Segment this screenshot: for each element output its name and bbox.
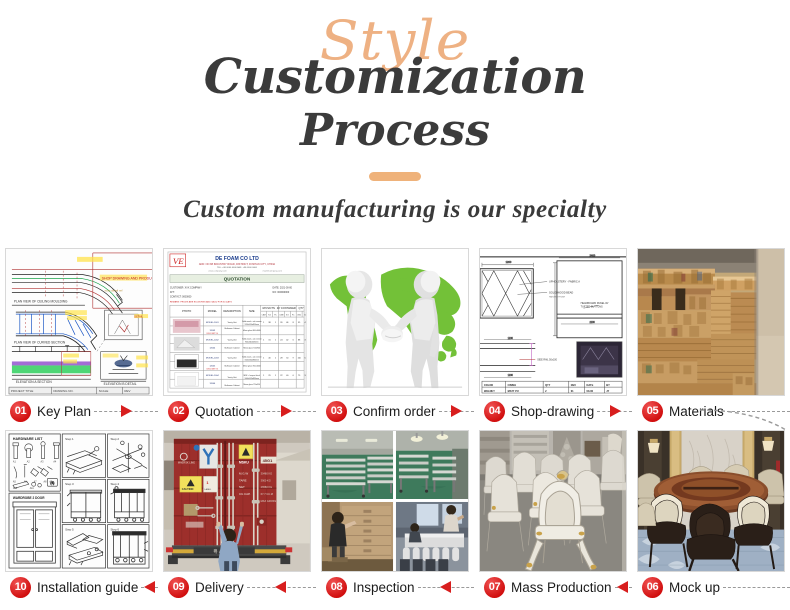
svg-text:CBM: CBM	[279, 315, 283, 317]
stacked-timber-lumber	[638, 249, 784, 395]
process-row-1-images: SHOP DRAWING AND PRODUCTION note detail …	[0, 244, 790, 396]
svg-text:SIDE RAIL 50x100: SIDE RAIL 50x100	[537, 358, 557, 361]
svg-text:Solid wood + oak veneer: Solid wood + oak veneer	[242, 321, 262, 323]
svg-text:MATT PU: MATT PU	[508, 389, 519, 393]
cell-mass-production	[474, 426, 632, 572]
label-text-09: Delivery	[195, 580, 244, 595]
svg-text:CONTACT: 0000000: CONTACT: 0000000	[170, 295, 192, 298]
svg-text:Bathroom Cabinet: Bathroom Cabinet	[225, 384, 240, 387]
svg-text:Step 5: Step 5	[65, 528, 74, 532]
cell-confirm-order	[316, 244, 474, 396]
svg-text:3900 KG: 3900 KG	[261, 478, 271, 482]
arrow-02-to-03	[257, 405, 316, 417]
svg-text:30480 KG: 30480 KG	[261, 471, 272, 475]
svg-text:22: 22	[280, 375, 282, 377]
accent-divider-bar	[369, 172, 421, 181]
process-grid: SHOP DRAWING AND PRODUCTION note detail …	[0, 244, 790, 602]
svg-text:PHOTO: PHOTO	[182, 309, 191, 313]
svg-text:Step 6: Step 6	[111, 528, 120, 532]
svg-text:REMARK: PRICES ARE EX-WORKS AN: REMARK: PRICES ARE EX-WORKS AND VALID FO…	[170, 300, 232, 303]
thumb-shop-drawing: 1200 UPHOLSTERY - FABRIC A SOLID WOOD	[479, 248, 627, 396]
svg-text:DE FOAM CO LTD: DE FOAM CO LTD	[215, 256, 259, 262]
process-row-1-labels: 01 Key Plan 02 Quotation 03 Confirm orde…	[0, 396, 790, 426]
svg-text:MAERSK LINE: MAERSK LINE	[178, 461, 195, 465]
svg-text:31: 31	[268, 340, 270, 342]
quotation-spreadsheet: VE DE FOAM CO LTD ADD: NO 88 INDUSTRY RO…	[164, 249, 310, 395]
svg-text:26580 KG: 26580 KG	[261, 485, 272, 489]
svg-text:Vanity Unit: Vanity Unit	[228, 357, 237, 360]
svg-text:45G1: 45G1	[263, 458, 273, 463]
cell-shop-drawing: 1200 UPHOLSTERY - FABRIC A SOLID WOOD	[474, 244, 632, 396]
process-row-2-images: HARDWARE LIST A1A2A3A4 A5A6A7A8 A10A11A9	[0, 426, 790, 572]
thumb-confirm-order	[321, 248, 469, 396]
svg-text:PROJECT TITLE: PROJECT TITLE	[11, 389, 33, 393]
svg-text:MODEL-1003: MODEL-1003	[206, 358, 219, 360]
svg-text:note detail ref: note detail ref	[105, 288, 123, 292]
arrow-left-icon	[617, 581, 628, 593]
badge-08: 08	[326, 577, 347, 598]
arrow-08-to-09	[247, 581, 316, 593]
svg-text:Solid wood + oak veneer: Solid wood + oak veneer	[242, 339, 262, 341]
arrow-03-to-04	[439, 405, 474, 417]
svg-text:1: 1	[275, 322, 276, 324]
svg-text:SIZE: SIZE	[249, 309, 255, 313]
svg-text:42: 42	[286, 340, 288, 342]
svg-text:2400: 2400	[590, 253, 596, 257]
svg-text:Vanity Unit: Vanity Unit	[228, 321, 237, 324]
svg-text:Vanity Unit: Vanity Unit	[228, 376, 237, 379]
svg-text:1PCS/CTN: 1PCS/CTN	[262, 306, 275, 310]
arrow-right-icon	[281, 405, 292, 417]
svg-text:Bathroom Cabinet: Bathroom Cabinet	[225, 347, 240, 350]
badge-06: 06	[642, 577, 663, 598]
arrow-07-to-08	[418, 581, 474, 593]
svg-text:Vanity Unit: Vanity Unit	[228, 339, 237, 342]
svg-text:www.company.com: www.company.com	[208, 271, 227, 273]
thumb-quotation: VE DE FOAM CO LTD ADD: NO 88 INDUSTRY RO…	[163, 248, 311, 396]
badge-01: 01	[10, 401, 31, 422]
cell-quotation: VE DE FOAM CO LTD ADD: NO 88 INDUSTRY RO…	[158, 244, 316, 396]
svg-text:MODEL: MODEL	[208, 309, 218, 313]
svg-text:(4): (4)	[50, 481, 54, 485]
svg-text:00-00: 00-00	[587, 389, 594, 393]
svg-text:Step 3: Step 3	[65, 482, 74, 486]
label-text-08: Inspection	[353, 580, 415, 595]
process-row-2-labels: 10 Installation guide 09 Delivery 08 Ins…	[0, 572, 790, 602]
svg-text:1200x550x850mm: 1200x550x850mm	[245, 324, 260, 326]
svg-text:NET: NET	[239, 485, 245, 489]
svg-text:COLOR: COLOR	[484, 383, 493, 387]
svg-text:LABEL: LABEL	[204, 488, 212, 491]
svg-text:CUSTOMER: XXX COMPANY: CUSTOMER: XXX COMPANY	[170, 286, 202, 289]
arrow-right-icon	[451, 405, 462, 417]
svg-text:12006: 12006	[209, 383, 216, 385]
arrow-left-icon	[275, 581, 286, 593]
cell-materials	[632, 244, 790, 396]
svg-text:$: $	[305, 315, 306, 317]
svg-text:1: 1	[275, 340, 276, 342]
svg-text:CU.CAP.: CU.CAP.	[239, 492, 251, 496]
arrow-left-icon	[144, 581, 155, 593]
svg-text:JT: JT	[606, 389, 609, 393]
cell-inspection	[316, 426, 474, 572]
svg-text:1500x560x860mm: 1500x560x860mm	[245, 359, 260, 361]
svg-text:ADD: NO 88 INDUSTRY ROAD, DIST: ADD: NO 88 INDUSTRY ROAD, DISTRICT, FOSH…	[199, 262, 276, 266]
svg-text:A11: A11	[30, 487, 35, 490]
badge-04: 04	[484, 401, 505, 422]
label-step-08[interactable]: 08 Inspection	[316, 572, 474, 602]
page-title-line1: Customization	[0, 50, 790, 105]
svg-text:Step 2: Step 2	[111, 437, 120, 441]
page-header: Style Customization Process Custom manuf…	[0, 0, 790, 240]
svg-text:DISCOUNT 5%: DISCOUNT 5%	[207, 368, 219, 370]
dining-table-mockup	[638, 431, 784, 571]
svg-text:QUOTATION: QUOTATION	[224, 277, 250, 282]
cell-key-plan: SHOP DRAWING AND PRODUCTION note detail …	[0, 244, 158, 396]
label-step-09[interactable]: 09 Delivery	[158, 572, 316, 602]
svg-text:MDF + lacquer finish: MDF + lacquer finish	[244, 375, 260, 377]
arrow-01-to-02	[94, 405, 158, 417]
svg-text:PLAN VIEW OF CURVED SECTION: PLAN VIEW OF CURVED SECTION	[14, 341, 66, 345]
svg-text:79: 79	[298, 375, 300, 377]
svg-text:DETAIL: DETAIL	[134, 315, 143, 319]
svg-text:QTY: QTY	[545, 383, 551, 387]
label-text-01: Key Plan	[37, 404, 91, 419]
svg-text:1200: 1200	[508, 374, 514, 377]
label-step-06[interactable]: 06 Mock up	[632, 572, 790, 602]
svg-text:ELEVATION A SECTION: ELEVATION A SECTION	[16, 380, 52, 384]
svg-text:1200: 1200	[506, 260, 512, 264]
svg-text:ELEVATION B DETAIL: ELEVATION B DETAIL	[104, 382, 137, 386]
svg-text:BY: BY	[606, 383, 610, 387]
svg-text:1: 1	[275, 358, 276, 360]
badge-10: 10	[10, 577, 31, 598]
handshake-world-map	[322, 249, 468, 395]
handshake-hands	[381, 326, 403, 342]
label-step-03[interactable]: 03 Confirm order	[316, 396, 474, 426]
arrow-09-to-10	[141, 581, 158, 593]
arrow-06-tail	[723, 581, 790, 593]
label-step-07[interactable]: 07 Mass Production	[474, 572, 632, 602]
label-text-05: Materials	[669, 404, 724, 419]
svg-text:900x500x820mm: 900x500x820mm	[245, 342, 259, 344]
svg-text:WARDROBE 2 DOOR: WARDROBE 2 DOOR	[13, 496, 45, 500]
arrow-right-icon	[121, 405, 132, 417]
arrow-05-curve-down	[727, 405, 790, 417]
svg-text:12003: 12003	[209, 330, 216, 332]
dash-line	[723, 587, 790, 588]
cell-mock-up	[632, 426, 790, 572]
warehouse-inspection-collage	[322, 431, 468, 571]
svg-text:CBM: CBM	[262, 315, 266, 317]
svg-text:SOLID WOOD BEAD: SOLID WOOD BEAD	[549, 290, 573, 294]
svg-text:ATT:: ATT:	[170, 291, 175, 294]
svg-text:9: 9	[293, 358, 294, 360]
svg-text:1: 1	[263, 358, 264, 360]
svg-text:FINISH: FINISH	[508, 383, 517, 387]
white-chairs-production	[480, 431, 626, 571]
svg-text:Bathroom Cabinet: Bathroom Cabinet	[225, 327, 240, 330]
svg-text:12004: 12004	[209, 348, 216, 350]
svg-text:TARE: TARE	[239, 478, 247, 482]
cad-key-plan-drawing: SHOP DRAWING AND PRODUCTION note detail …	[6, 249, 152, 395]
svg-text:HARDWARE LIST: HARDWARE LIST	[13, 437, 43, 441]
svg-text:29: 29	[268, 375, 270, 377]
svg-text:Step 1: Step 1	[65, 437, 74, 441]
thumb-mass-production	[479, 430, 627, 572]
svg-text:1200: 1200	[508, 337, 514, 340]
arrow-04-to-05	[597, 405, 632, 417]
svg-text:DISCOUNT 5%: DISCOUNT 5%	[207, 333, 219, 335]
thumb-mock-up	[637, 430, 785, 572]
svg-text:QTY: QTY	[298, 306, 304, 310]
svg-text:TEL: +86 0000 0000 FAX: +86: TEL: +86 0000 0000 FAX: +86 0000 0000	[217, 266, 258, 269]
label-text-02: Quotation	[195, 404, 254, 419]
svg-text:Step 4: Step 4	[111, 482, 120, 486]
assembly-instruction-sheet: HARDWARE LIST A1A2A3A4 A5A6A7A8 A10A11A9	[6, 431, 152, 571]
svg-text:MODEL-1002: MODEL-1002	[206, 340, 219, 342]
svg-text:TUFTED BUTTONS: TUFTED BUTTONS	[581, 306, 603, 309]
page-tagline: Custom manufacturing is our specialty	[0, 196, 790, 224]
svg-text:Mirror glass 900x1000: Mirror glass 900x1000	[243, 365, 260, 367]
svg-text:REV: REV	[571, 383, 577, 387]
svg-text:MAX GROSS: MAX GROSS	[261, 499, 277, 503]
badge-09: 09	[168, 577, 189, 598]
thumb-delivery: MAERSK LINE MSKU 45G1 M.G.WTARE NETCU.CA…	[163, 430, 311, 572]
svg-text:DRAWING NO.: DRAWING NO.	[53, 389, 73, 393]
svg-text:1000x520x830mm: 1000x520x830mm	[245, 378, 260, 380]
svg-text:REV: REV	[124, 389, 130, 393]
svg-text:Mirror glass 800x1000: Mirror glass 800x1000	[243, 330, 260, 332]
badge-03: 03	[326, 401, 347, 422]
thumb-installation-guide: HARDWARE LIST A1A2A3A4 A5A6A7A8 A10A11A9	[5, 430, 153, 572]
arrow-06-to-07	[615, 581, 632, 593]
svg-text:M.G.W: M.G.W	[239, 471, 248, 475]
label-text-06: Mock up	[669, 580, 720, 595]
label-text-10: Installation guide	[37, 580, 138, 595]
badge-02: 02	[168, 401, 189, 422]
label-step-10[interactable]: 10 Installation guide	[0, 572, 158, 602]
label-step-05[interactable]: 05 Materials	[632, 396, 790, 426]
svg-text:DESCRIPTION: DESCRIPTION	[223, 309, 241, 313]
svg-text:12005: 12005	[209, 365, 216, 367]
red-shipping-container: MAERSK LINE MSKU 45G1 M.G.WTARE NETCU.CA…	[164, 431, 310, 571]
svg-text:Bathroom Cabinet: Bathroom Cabinet	[225, 364, 240, 367]
svg-text:SCALE: SCALE	[99, 389, 109, 393]
svg-text:VE: VE	[173, 256, 184, 266]
svg-text:WALNUT: WALNUT	[484, 389, 495, 393]
svg-text:MODEL-1004: MODEL-1004	[206, 375, 219, 377]
svg-text:40' CONTAINER: 40' CONTAINER	[277, 306, 296, 310]
svg-text:1: 1	[275, 375, 276, 377]
page-title-line2: Process	[0, 107, 790, 155]
svg-text:Mirror glass 750x950: Mirror glass 750x950	[244, 384, 261, 386]
svg-text:Solid wood + oak veneer: Solid wood + oak veneer	[242, 357, 262, 359]
svg-text:2200: 2200	[590, 321, 596, 324]
label-step-01[interactable]: 01 Key Plan	[0, 396, 158, 426]
label-text-03: Confirm order	[353, 404, 436, 419]
svg-text:Mirror glass 700x900: Mirror glass 700x900	[244, 348, 261, 350]
svg-text:DATE: DATE	[587, 383, 594, 387]
svg-text:SHOP DRAWING AND PRODUCTION: SHOP DRAWING AND PRODUCTION	[102, 277, 152, 281]
badge-05: 05	[642, 401, 663, 422]
label-step-02[interactable]: 02 Quotation	[158, 396, 316, 426]
svg-text:1: 1	[263, 322, 264, 324]
svg-text:1: 1	[263, 375, 264, 377]
arrow-left-icon	[440, 581, 451, 593]
svg-text:NO: 000000000: NO: 000000000	[273, 291, 290, 294]
svg-text:MODEL-1001: MODEL-1001	[206, 322, 219, 324]
label-step-04[interactable]: 04 Shop-drawing	[474, 396, 632, 426]
label-text-07: Mass Production	[511, 580, 612, 595]
label-text-04: Shop-drawing	[511, 404, 594, 419]
thumb-materials	[637, 248, 785, 396]
cell-installation-guide: HARDWARE LIST A1A2A3A4 A5A6A7A8 A10A11A9	[0, 426, 158, 572]
svg-text:CAUTION: CAUTION	[182, 487, 194, 491]
dash-line	[727, 411, 790, 412]
svg-text:PLAN VIEW OF CEILING MOULDING: PLAN VIEW OF CEILING MOULDING	[14, 299, 68, 303]
badge-07: 07	[484, 577, 505, 598]
svg-text:DATE: 2021-00-00: DATE: 2021-00-00	[273, 286, 293, 289]
svg-text:UPHOLSTERY - FABRIC A: UPHOLSTERY - FABRIC A	[549, 280, 580, 284]
thumb-key-plan: SHOP DRAWING AND PRODUCTION note detail …	[5, 248, 153, 396]
svg-text:MSKU: MSKU	[239, 461, 249, 465]
svg-text:PAINTED FINISH: PAINTED FINISH	[549, 295, 566, 298]
arrow-right-icon	[610, 405, 621, 417]
svg-text:1: 1	[263, 340, 264, 342]
svg-text:67.7 CU.M: 67.7 CU.M	[261, 492, 273, 496]
thumb-inspection	[321, 430, 469, 572]
cell-delivery: MAERSK LINE MSKU 45G1 M.G.WTARE NETCU.CA…	[158, 426, 316, 572]
shop-drawing-lattice-panel: 1200 UPHOLSTERY - FABRIC A SOLID WOOD	[480, 249, 626, 395]
svg-text:mail@company.com: mail@company.com	[263, 271, 283, 273]
